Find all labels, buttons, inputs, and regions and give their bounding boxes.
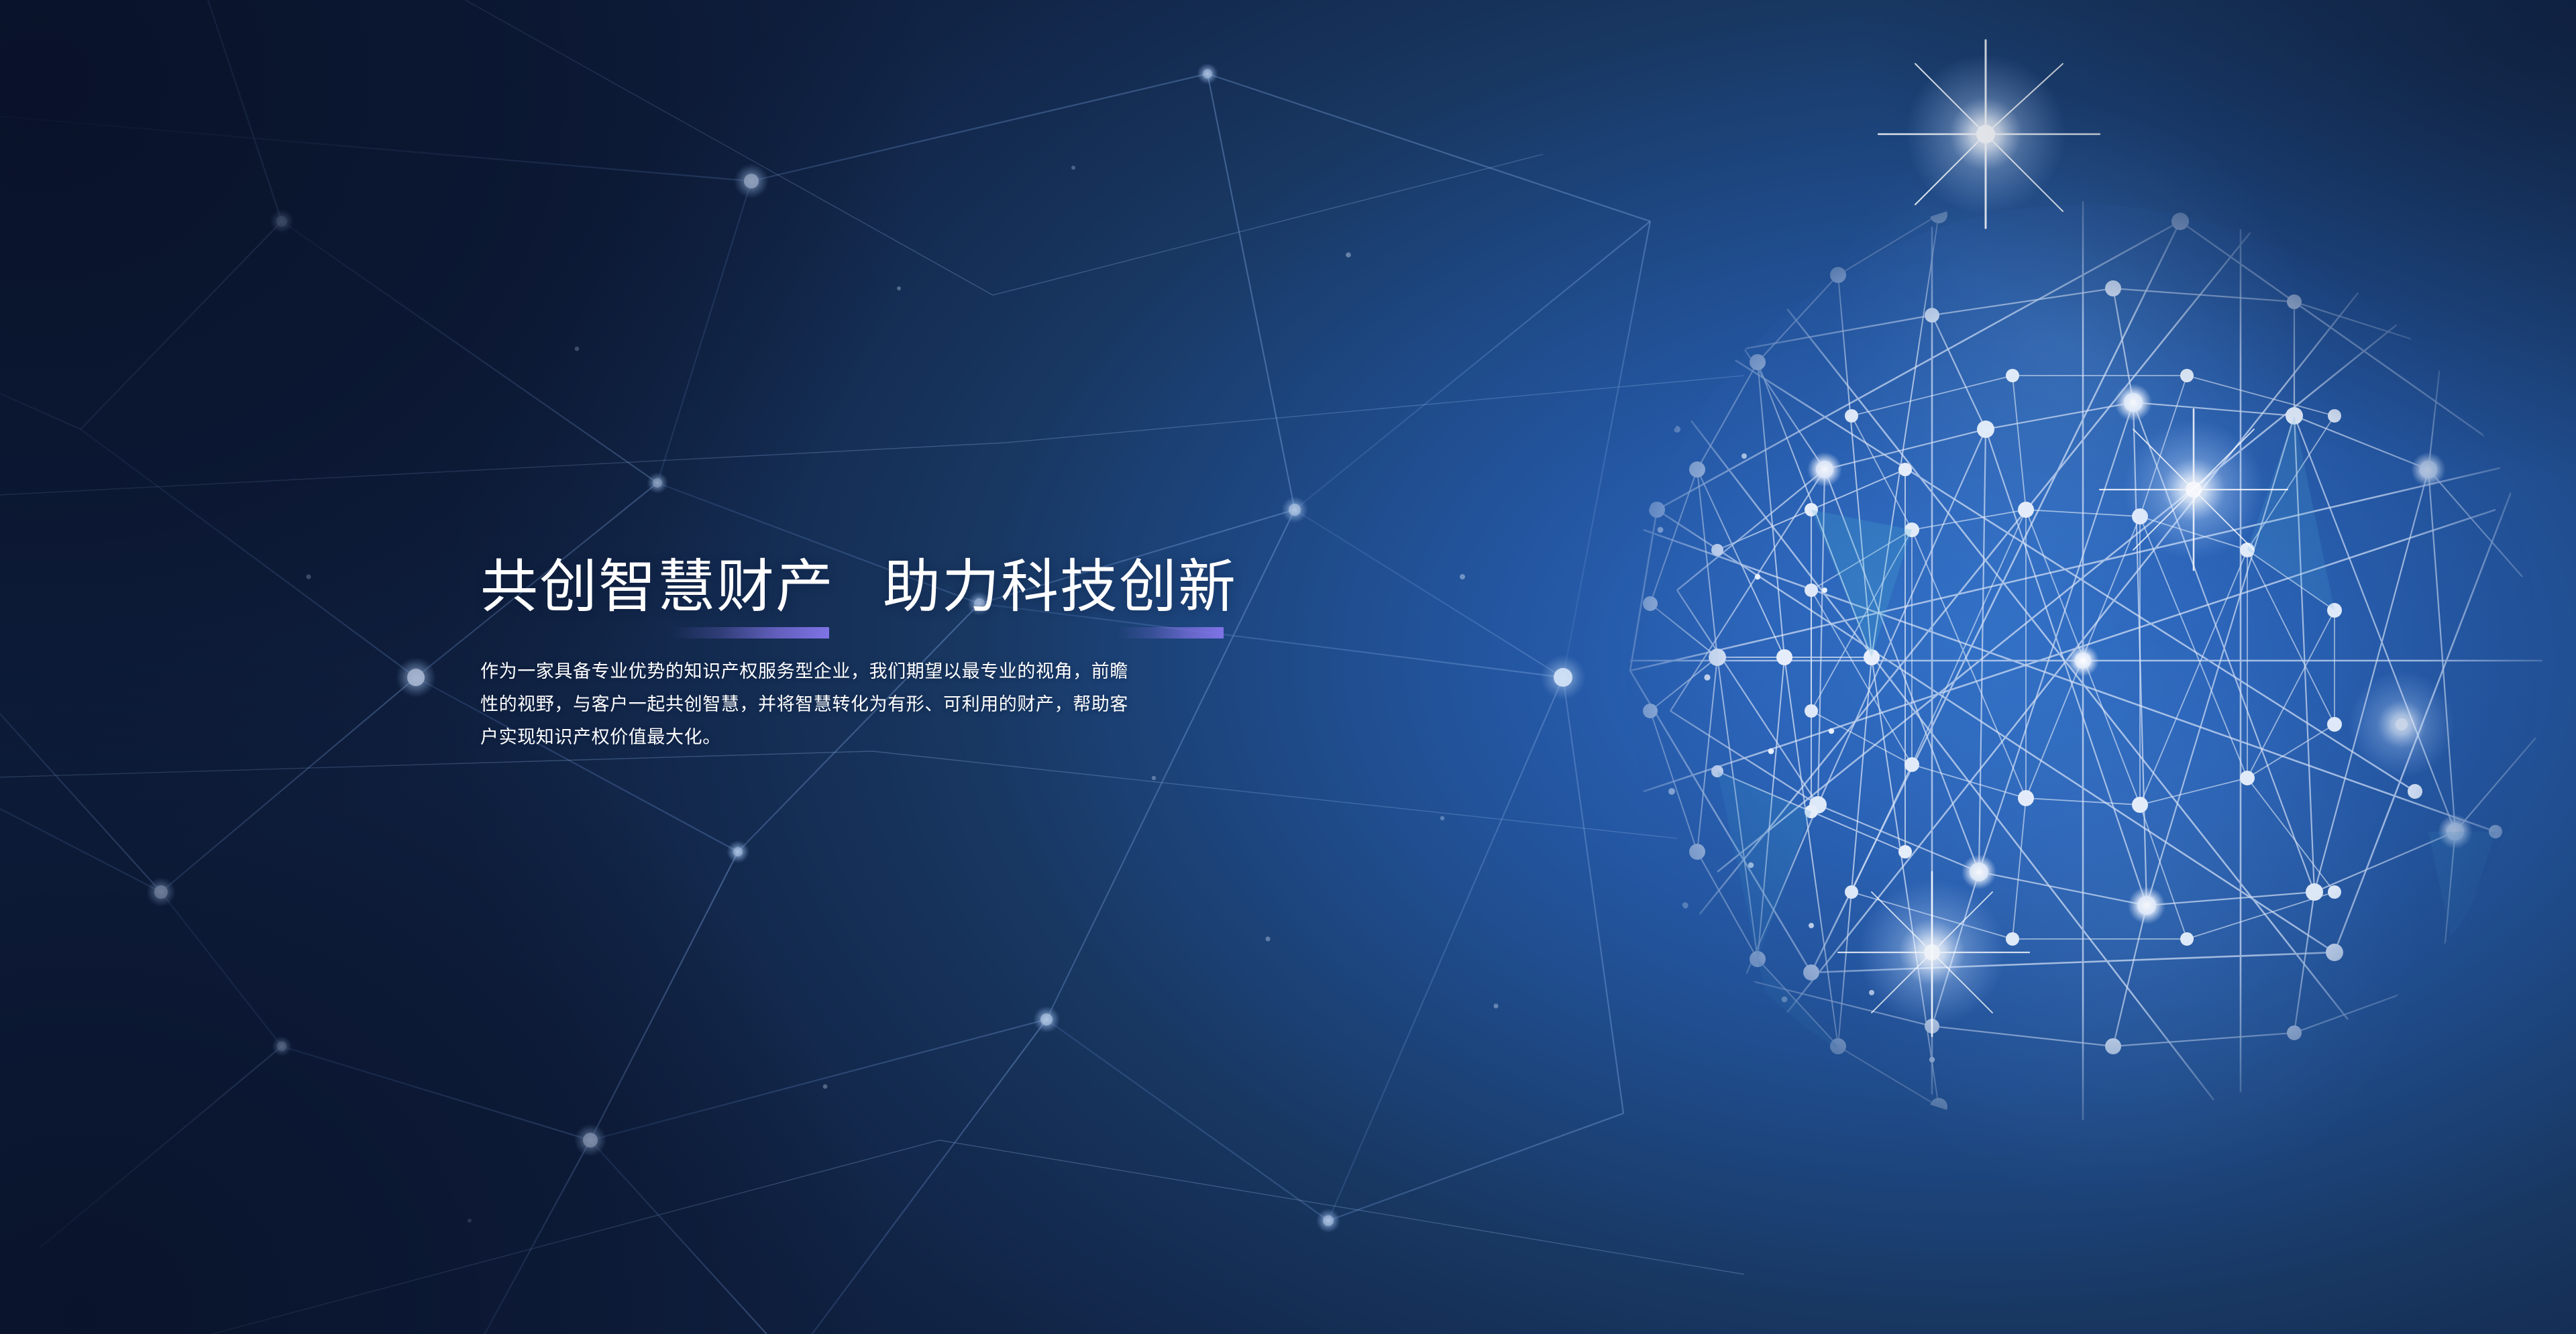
body-line: 作为一家具备专业优势的知识产权服务型企业，我们期望以最专业的视角，前瞻 [480, 659, 1452, 691]
headline-group-one: 共创智慧财产 [480, 550, 835, 624]
hero-banner: 共创智慧财产 助力科技创新 作为一家具备专业优势的知识产权服务型企业，我们期望以… [0, 0, 2576, 1334]
hero-content: 共创智慧财产 助力科技创新 作为一家具备专业优势的知识产权服务型企业，我们期望以… [480, 550, 1487, 757]
headline-part-two: 助力科技创新 [883, 555, 1237, 619]
body-line: 性的视野，与客户一起共创智慧，并将智慧转化为有形、可利用的财产，帮助客 [480, 691, 1452, 724]
body-line: 户实现知识产权价值最大化。 [480, 724, 1452, 757]
headline-accent-bar-two [1118, 627, 1224, 638]
body-copy: 作为一家具备专业优势的知识产权服务型企业，我们期望以最专业的视角，前瞻 性的视野… [480, 659, 1452, 757]
headline-accent-bar-one [671, 627, 829, 638]
headline-group-two: 助力科技创新 [883, 550, 1237, 624]
headline-part-one: 共创智慧财产 [480, 555, 835, 619]
headline: 共创智慧财产 助力科技创新 [480, 550, 1487, 624]
